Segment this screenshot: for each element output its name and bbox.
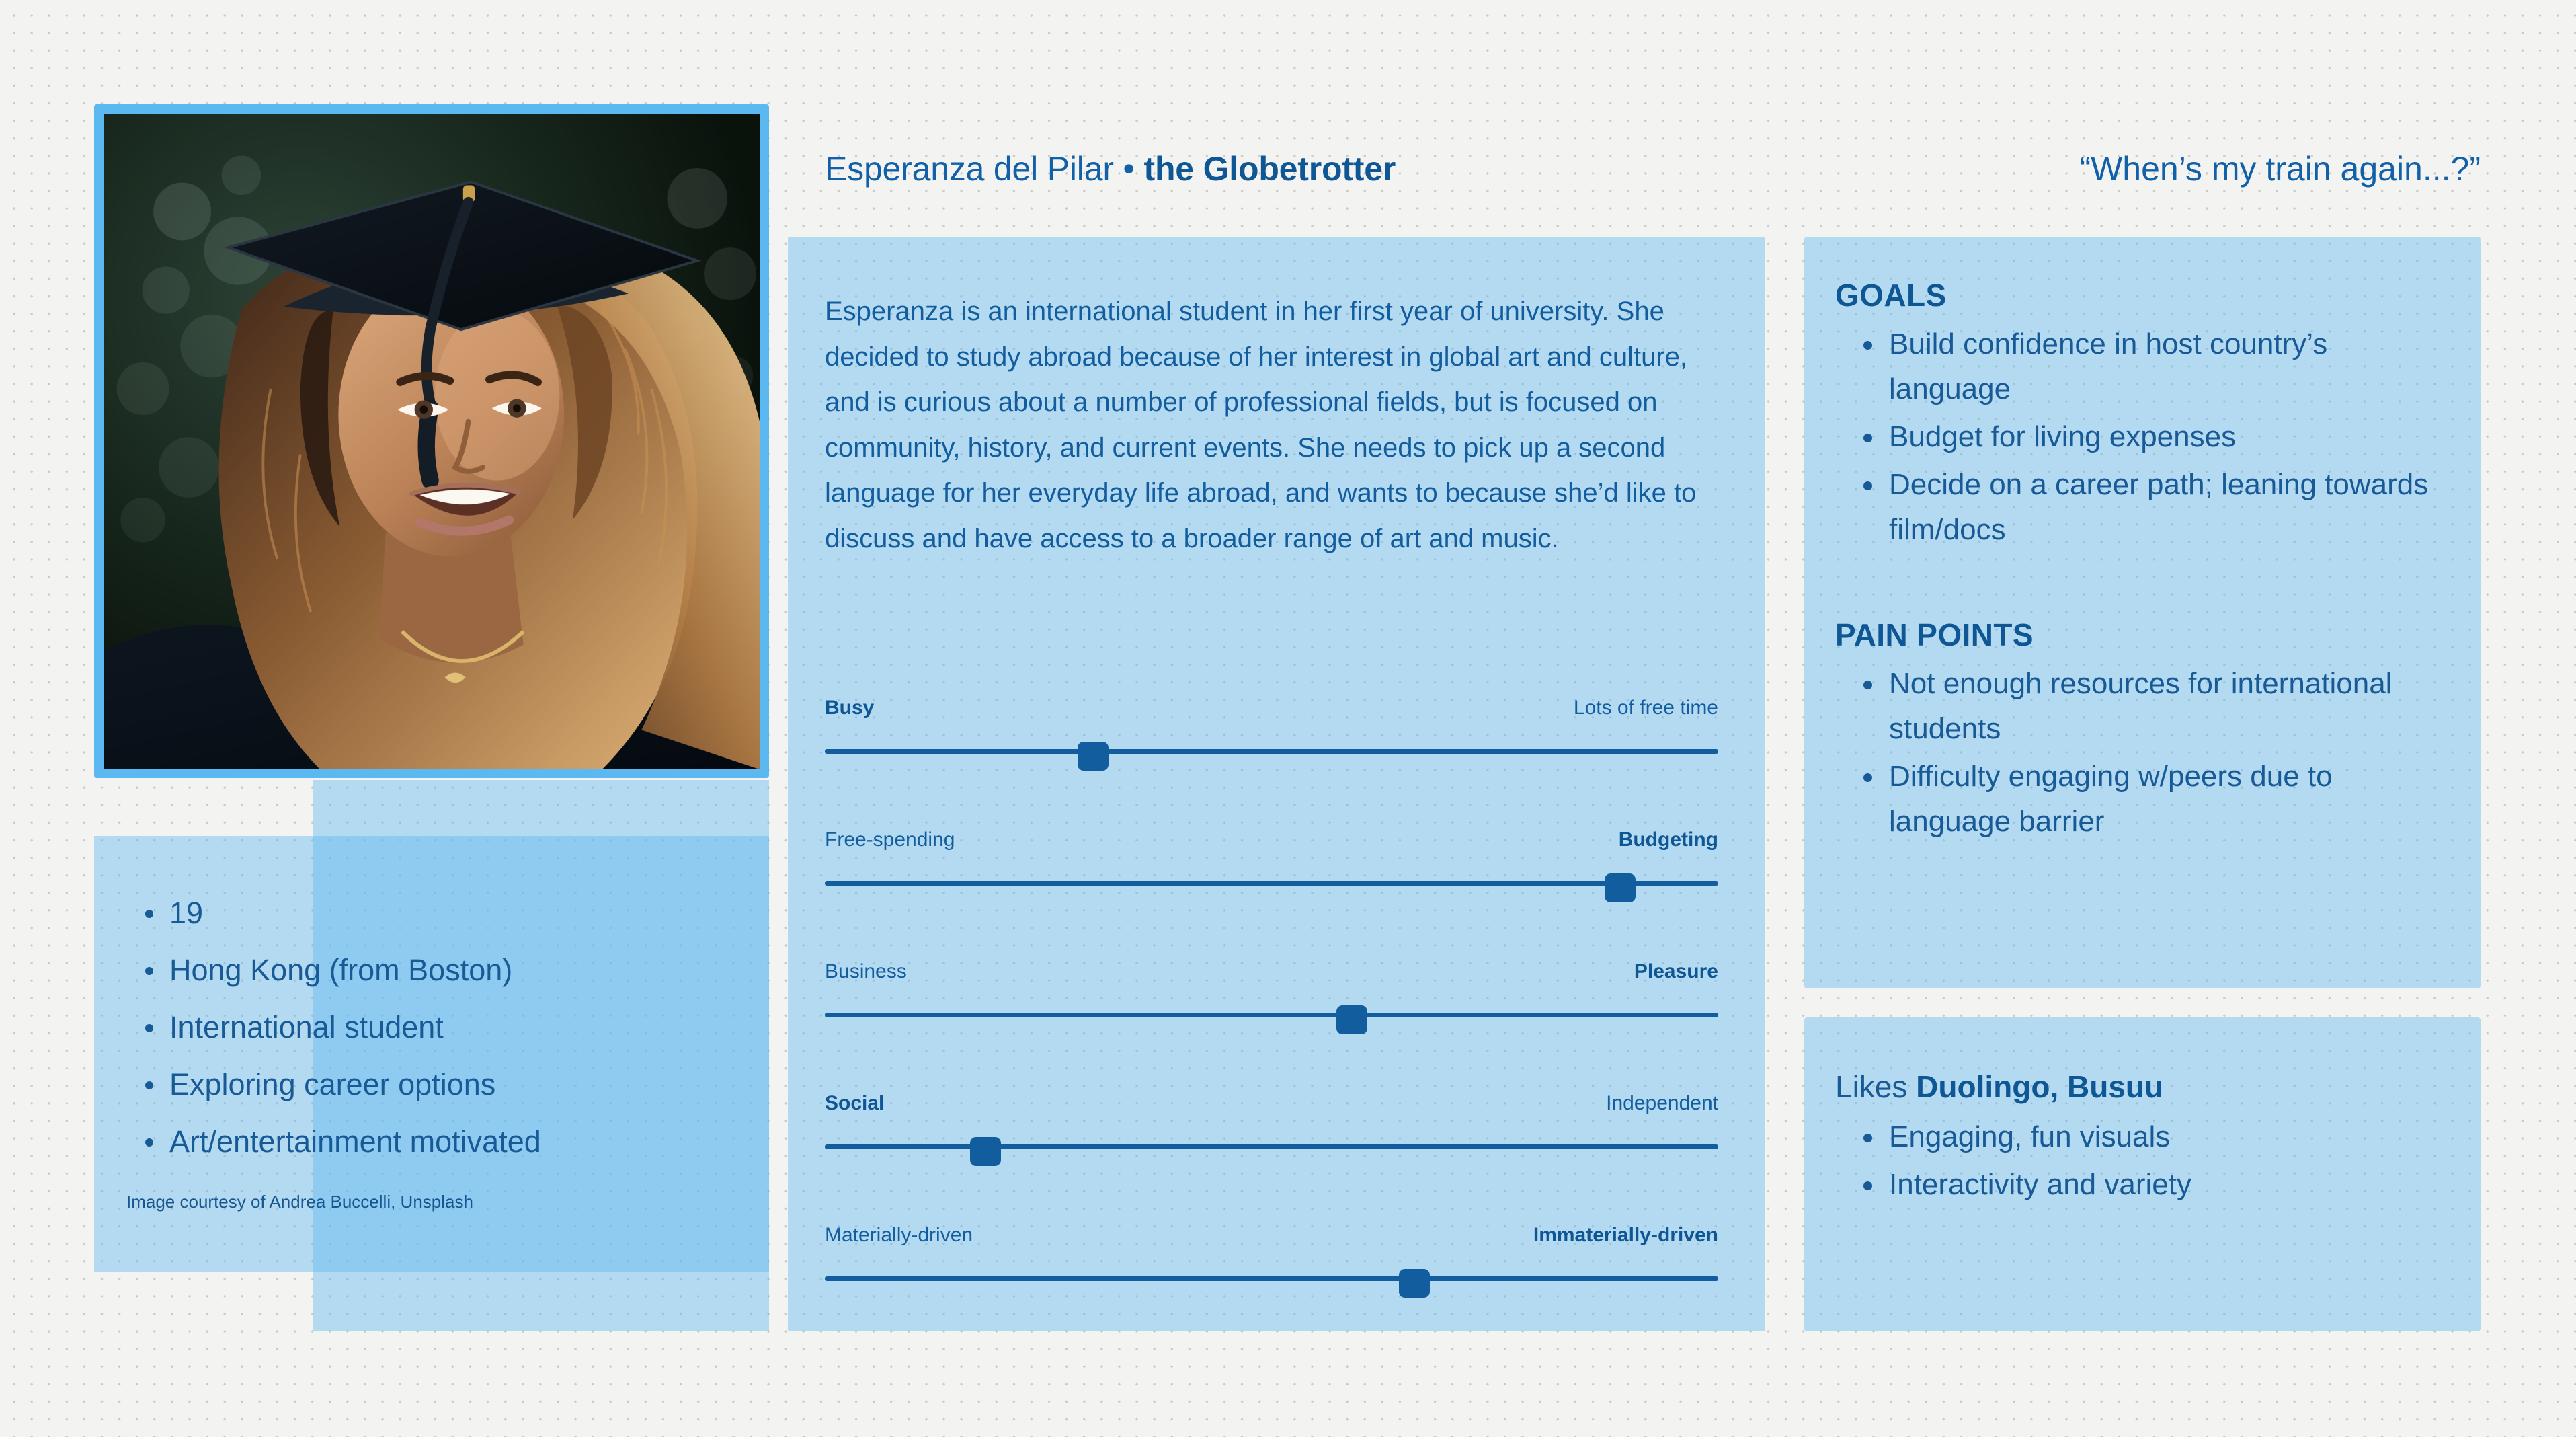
slider-right-label: Immaterially-driven [1533,1223,1718,1247]
slider-track[interactable] [825,1276,1718,1281]
goals-list: Build confidence in host country’s langu… [1835,321,2450,552]
title-separator-2 [1135,150,1144,188]
slider-right-label: Budgeting [1619,828,1718,852]
slider-left-label: Free-spending [825,828,955,852]
slider-label-row: Busy Lots of free time [825,696,1718,720]
likes-card: Likes Duolingo, Busuu Engaging, fun visu… [1804,1017,2481,1331]
slider-track-wrap[interactable] [825,873,1718,891]
slider-business-pleasure[interactable]: Business Pleasure [825,960,1718,1091]
persona-traits-sliders: Busy Lots of free time Free-spending Bud… [825,696,1718,1355]
likes-list: Engaging, fun visuals Interactivity and … [1835,1114,2450,1207]
slider-track-wrap[interactable] [825,1005,1718,1023]
persona-bio: Esperanza is an international student in… [825,289,1729,561]
goals-and-pain-points-card: GOALS Build confidence in host country’s… [1804,237,2481,988]
title-bullet-separator: • [1123,150,1134,188]
likes-apps: Duolingo, Busuu [1916,1069,2163,1104]
goals-heading: GOALS [1835,277,2450,313]
slider-left-label: Busy [825,696,874,720]
slider-label-row: Materially-driven Immaterially-driven [825,1223,1718,1247]
slider-social-independent[interactable]: Social Independent [825,1091,1718,1223]
pain-points-heading: PAIN POINTS [1835,617,2450,653]
title-separator [1114,150,1123,188]
list-item: Difficulty engaging w/peers due to langu… [1889,754,2450,844]
slider-label-row: Social Independent [825,1091,1718,1116]
list-item: Budget for living expenses [1889,414,2450,459]
list-item: Not enough resources for international s… [1889,661,2450,751]
slider-track[interactable] [825,1013,1718,1017]
persona-facts-list: 19 Hong Kong (from Boston) International… [121,884,742,1170]
list-item: Hong Kong (from Boston) [169,941,742,999]
slider-thumb[interactable] [1605,873,1636,902]
slider-right-label: Pleasure [1634,960,1718,984]
likes-title: Likes Duolingo, Busuu [1835,1066,2450,1108]
slider-left-label: Social [825,1091,884,1116]
slider-thumb[interactable] [1336,1005,1367,1034]
slider-spending-budgeting[interactable]: Free-spending Budgeting [825,828,1718,960]
persona-photo-frame [94,104,769,778]
page-title: Esperanza del Pilar • the Globetrotter [825,149,1396,188]
slider-label-row: Business Pleasure [825,960,1718,984]
list-item: Interactivity and variety [1889,1162,2450,1207]
pain-points-list: Not enough resources for international s… [1835,661,2450,844]
list-item: 19 [169,884,742,941]
slider-thumb[interactable] [1399,1269,1430,1298]
slider-right-label: Lots of free time [1574,696,1718,720]
slider-track[interactable] [825,881,1718,886]
slider-track[interactable] [825,749,1718,754]
persona-facts-panel: 19 Hong Kong (from Boston) International… [94,836,769,1272]
list-item: Engaging, fun visuals [1889,1114,2450,1159]
persona-photo [104,114,760,769]
slider-left-label: Business [825,960,907,984]
slider-right-label: Independent [1606,1091,1718,1116]
slider-track-wrap[interactable] [825,1137,1718,1155]
photo-credit: Image courtesy of Andrea Buccelli, Unspl… [126,1190,742,1213]
list-item: Build confidence in host country’s langu… [1889,321,2450,412]
slider-material-immaterial[interactable]: Materially-driven Immaterially-driven [825,1223,1718,1355]
slider-track-wrap[interactable] [825,742,1718,759]
list-item: Exploring career options [169,1056,742,1113]
slider-busy-free-time[interactable]: Busy Lots of free time [825,696,1718,828]
list-item: Art/entertainment motivated [169,1113,742,1170]
slider-track-wrap[interactable] [825,1269,1718,1286]
list-item: Decide on a career path; leaning towards… [1889,462,2450,552]
likes-prefix: Likes [1835,1069,1916,1104]
persona-name: Esperanza del Pilar [825,150,1114,188]
list-item: International student [169,999,742,1056]
persona-archetype: the Globetrotter [1144,150,1396,188]
persona-quote: “When’s my train again...?” [2079,149,2481,188]
slider-label-row: Free-spending Budgeting [825,828,1718,852]
slider-track[interactable] [825,1144,1718,1149]
slider-thumb[interactable] [1078,742,1109,771]
slider-thumb[interactable] [970,1137,1001,1166]
slider-left-label: Materially-driven [825,1223,973,1247]
